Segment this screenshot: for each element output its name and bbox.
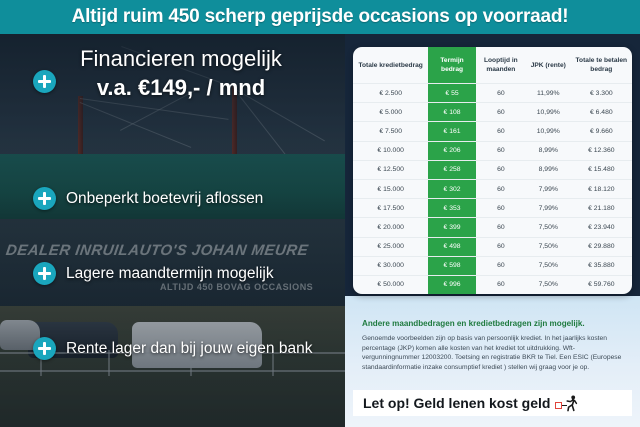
cell-duration: 60 bbox=[476, 84, 526, 103]
cell-total-payable: € 15.480 bbox=[571, 160, 632, 179]
cell-total-credit: € 25.000 bbox=[353, 237, 428, 256]
credit-warning-text: Let op! Geld lenen kost geld bbox=[363, 395, 550, 411]
plus-icon bbox=[33, 262, 56, 285]
table-row: € 5.000€ 1086010,99%€ 6.480 bbox=[353, 103, 632, 122]
cell-total-credit: € 50.000 bbox=[353, 275, 428, 294]
cell-duration: 60 bbox=[476, 122, 526, 141]
cell-term-amount: € 353 bbox=[428, 199, 475, 218]
table-header-row: Totale kredietbedrag Termijn bedrag Loop… bbox=[353, 47, 632, 84]
cell-total-credit: € 2.500 bbox=[353, 84, 428, 103]
cell-term-amount: € 258 bbox=[428, 160, 475, 179]
cell-total-payable: € 35.880 bbox=[571, 256, 632, 275]
cell-jpk: 7,50% bbox=[526, 237, 571, 256]
cell-duration: 60 bbox=[476, 199, 526, 218]
cell-term-amount: € 206 bbox=[428, 141, 475, 160]
plus-icon bbox=[33, 187, 56, 210]
afm-box-shape bbox=[555, 402, 562, 409]
cell-duration: 60 bbox=[476, 103, 526, 122]
cell-total-credit: € 12.500 bbox=[353, 160, 428, 179]
cell-term-amount: € 302 bbox=[428, 179, 475, 198]
cell-total-payable: € 9.660 bbox=[571, 122, 632, 141]
cell-jpk: 8,99% bbox=[526, 141, 571, 160]
cell-jpk: 11,99% bbox=[526, 84, 571, 103]
cell-total-payable: € 29.880 bbox=[571, 237, 632, 256]
headline-line-1: Financieren mogelijk bbox=[26, 46, 336, 72]
table-row: € 30.000€ 598607,50%€ 35.880 bbox=[353, 256, 632, 275]
cell-total-credit: € 17.500 bbox=[353, 199, 428, 218]
cell-total-payable: € 6.480 bbox=[571, 103, 632, 122]
cell-jpk: 10,99% bbox=[526, 122, 571, 141]
cell-jpk: 7,50% bbox=[526, 218, 571, 237]
table-row: € 2.500€ 556011,99%€ 3.300 bbox=[353, 84, 632, 103]
promo-content: Financieren mogelijk v.a. €149,- / mnd O… bbox=[0, 34, 345, 427]
table-row: € 50.000€ 996607,50%€ 59.760 bbox=[353, 275, 632, 294]
cell-total-credit: € 20.000 bbox=[353, 218, 428, 237]
cell-total-credit: € 30.000 bbox=[353, 256, 428, 275]
cell-duration: 60 bbox=[476, 218, 526, 237]
promo-banner-image: Altijd ruim 450 scherp geprijsde occasio… bbox=[0, 0, 640, 427]
promo-headline: Financieren mogelijk v.a. €149,- / mnd bbox=[26, 46, 336, 102]
cell-jpk: 7,50% bbox=[526, 256, 571, 275]
cell-total-credit: € 10.000 bbox=[353, 141, 428, 160]
top-banner-text: Altijd ruim 450 scherp geprijsde occasio… bbox=[72, 6, 569, 28]
rates-card: Totale kredietbedrag Termijn bedrag Loop… bbox=[353, 47, 632, 294]
rates-table-body: € 2.500€ 556011,99%€ 3.300€ 5.000€ 10860… bbox=[353, 84, 632, 295]
cell-total-payable: € 23.940 bbox=[571, 218, 632, 237]
cell-duration: 60 bbox=[476, 141, 526, 160]
cell-term-amount: € 498 bbox=[428, 237, 475, 256]
cell-duration: 60 bbox=[476, 275, 526, 294]
promo-bullet-1: Onbeperkt boetevrij aflossen bbox=[33, 187, 263, 210]
cell-term-amount: € 108 bbox=[428, 103, 475, 122]
cell-term-amount: € 996 bbox=[428, 275, 475, 294]
cell-term-amount: € 598 bbox=[428, 256, 475, 275]
credit-warning-bar: Let op! Geld lenen kost geld bbox=[353, 390, 632, 416]
cell-total-payable: € 3.300 bbox=[571, 84, 632, 103]
afm-running-man-icon bbox=[555, 395, 577, 412]
table-row: € 7.500€ 1616010,99%€ 9.660 bbox=[353, 122, 632, 141]
promo-bullet-3: Rente lager dan bij jouw eigen bank bbox=[33, 337, 312, 360]
promo-bullet-label: Lagere maandtermijn mogelijk bbox=[66, 265, 274, 283]
table-row: € 17.500€ 353607,99%€ 21.180 bbox=[353, 199, 632, 218]
cell-duration: 60 bbox=[476, 160, 526, 179]
col-header-jpk: JPK (rente) bbox=[526, 47, 571, 84]
cell-total-payable: € 59.760 bbox=[571, 275, 632, 294]
cell-jpk: 7,99% bbox=[526, 179, 571, 198]
promo-bullet-label: Onbeperkt boetevrij aflossen bbox=[66, 190, 263, 208]
col-header-duration: Looptijd in maanden bbox=[476, 47, 526, 84]
col-header-total-payable: Totale te betalen bedrag bbox=[571, 47, 632, 84]
table-row: € 25.000€ 498607,50%€ 29.880 bbox=[353, 237, 632, 256]
promo-bullet-2: Lagere maandtermijn mogelijk bbox=[33, 262, 274, 285]
cell-total-payable: € 21.180 bbox=[571, 199, 632, 218]
cell-term-amount: € 55 bbox=[428, 84, 475, 103]
cell-total-payable: € 12.360 bbox=[571, 141, 632, 160]
cell-total-credit: € 15.000 bbox=[353, 179, 428, 198]
headline-line-2: v.a. €149,- / mnd bbox=[26, 74, 336, 102]
cell-total-payable: € 18.120 bbox=[571, 179, 632, 198]
cell-jpk: 10,99% bbox=[526, 103, 571, 122]
col-header-term-amount: Termijn bedrag bbox=[428, 47, 475, 84]
cell-total-credit: € 5.000 bbox=[353, 103, 428, 122]
top-banner: Altijd ruim 450 scherp geprijsde occasio… bbox=[0, 0, 640, 34]
cell-duration: 60 bbox=[476, 179, 526, 198]
cell-total-credit: € 7.500 bbox=[353, 122, 428, 141]
table-row: € 20.000€ 399607,50%€ 23.940 bbox=[353, 218, 632, 237]
plus-icon bbox=[33, 337, 56, 360]
rates-panel: Totale kredietbedrag Termijn bedrag Loop… bbox=[345, 34, 640, 427]
cell-duration: 60 bbox=[476, 237, 526, 256]
cell-jpk: 8,99% bbox=[526, 160, 571, 179]
cell-duration: 60 bbox=[476, 256, 526, 275]
rates-table: Totale kredietbedrag Termijn bedrag Loop… bbox=[353, 47, 632, 294]
disclaimer-title: Andere maandbedragen en kredietbedragen … bbox=[362, 318, 624, 329]
table-row: € 12.500€ 258608,99%€ 15.480 bbox=[353, 160, 632, 179]
cell-jpk: 7,99% bbox=[526, 199, 571, 218]
cell-term-amount: € 161 bbox=[428, 122, 475, 141]
table-row: € 15.000€ 302607,99%€ 18.120 bbox=[353, 179, 632, 198]
promo-bullet-label: Rente lager dan bij jouw eigen bank bbox=[66, 340, 312, 358]
cell-term-amount: € 399 bbox=[428, 218, 475, 237]
col-header-total-credit: Totale kredietbedrag bbox=[353, 47, 428, 84]
cell-jpk: 7,50% bbox=[526, 275, 571, 294]
table-row: € 10.000€ 206608,99%€ 12.360 bbox=[353, 141, 632, 160]
disclaimer-body: Genoemde voorbeelden zijn op basis van p… bbox=[362, 334, 624, 372]
